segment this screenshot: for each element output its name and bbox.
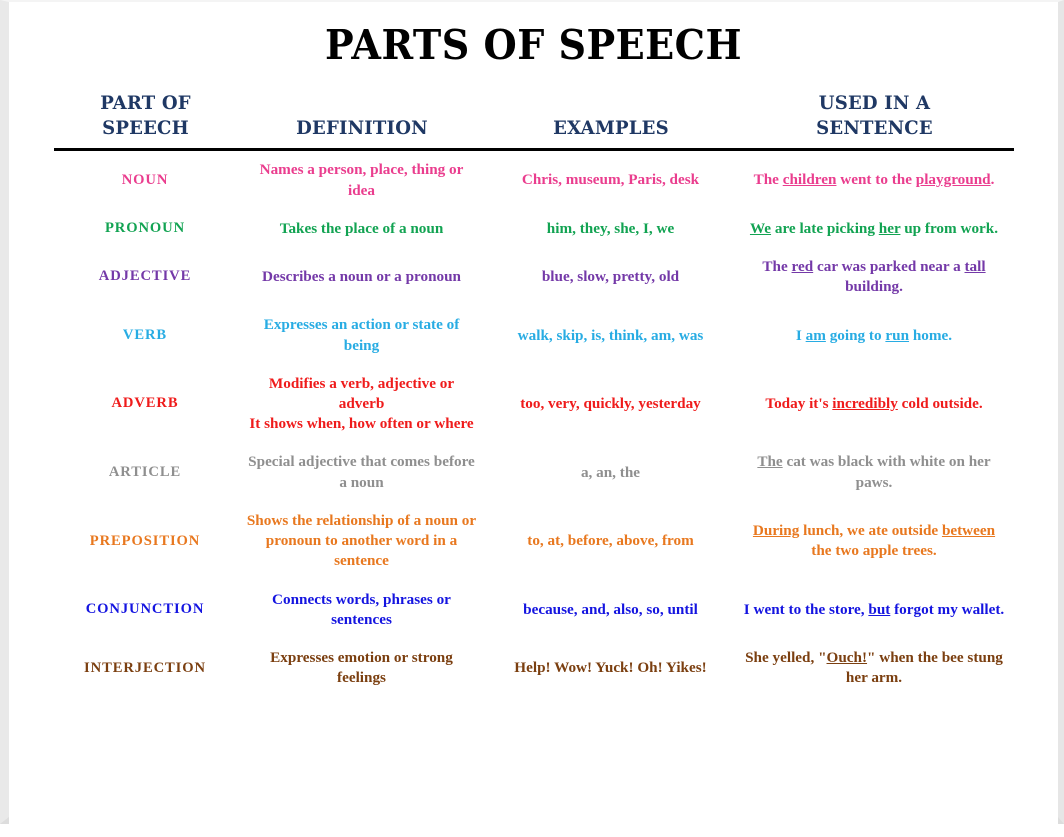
table-row: VERBExpresses an action or state of bein… <box>54 306 1014 364</box>
sentence-text: forgot my wallet. <box>890 601 1004 618</box>
column-header-line: DEFINITION <box>296 117 428 139</box>
table-row: ADJECTIVEDescribes a noun or a pronounbl… <box>54 248 1014 306</box>
table-row: NOUNNames a person, place, thing or idea… <box>54 150 1014 210</box>
part-of-speech-name: INTERJECTION <box>54 639 237 697</box>
sentence-highlight-word: tall <box>965 258 986 275</box>
part-of-speech-name: ADJECTIVE <box>54 248 237 306</box>
sentence-highlight-word: am <box>806 327 826 344</box>
sentence-text: I went to the store, <box>744 601 869 618</box>
part-of-speech-name: ARTICLE <box>54 443 237 501</box>
definition-text: Names a person, place, thing or idea <box>260 161 464 198</box>
sentence-highlight-word: her <box>879 220 901 237</box>
part-of-speech-sentence: We are late picking her up from work. <box>735 210 1014 248</box>
sentence-text: the two apple trees. <box>811 542 936 559</box>
part-of-speech-name: PREPOSITION <box>54 502 237 581</box>
part-of-speech-examples: walk, skip, is, think, am, was <box>487 306 735 364</box>
column-header-line: PART OF <box>100 92 191 114</box>
sentence-text: The <box>754 171 783 188</box>
column-header-line: SPEECH <box>102 117 189 139</box>
sentence-text: lunch, we ate outside <box>799 522 942 539</box>
part-of-speech-name: NOUN <box>54 150 237 210</box>
part-of-speech-definition: Describes a noun or a pronoun <box>237 248 487 306</box>
column-header-line: USED IN A <box>818 92 929 114</box>
sentence-highlight-word: Ouch! <box>827 649 868 666</box>
sentence-highlight-word: The <box>757 453 782 470</box>
sentence-highlight-word: run <box>885 327 909 344</box>
sentence-highlight-word: between <box>942 522 995 539</box>
sentence-text: car was parked near a <box>813 258 964 275</box>
sentence-text: up from work. <box>900 220 998 237</box>
table-header: PART OFSPEECH DEFINITION EXAMPLES USED I… <box>54 91 1014 150</box>
definition-text-secondary: It shows when, how often or where <box>247 414 477 434</box>
definition-text: Describes a noun or a pronoun <box>262 268 461 285</box>
part-of-speech-sentence: The cat was black with white on her paws… <box>735 443 1014 501</box>
table-row: PREPOSITIONShows the relationship of a n… <box>54 502 1014 581</box>
sentence-text: " when the bee stung her arm. <box>846 649 1003 686</box>
part-of-speech-examples: blue, slow, pretty, old <box>487 248 735 306</box>
part-of-speech-examples: Help! Wow! Yuck! Oh! Yikes! <box>487 639 735 697</box>
sentence-highlight-word: children <box>783 171 837 188</box>
sentence-text: Today it's <box>765 395 832 412</box>
part-of-speech-name: ADVERB <box>54 365 237 444</box>
definition-text: Modifies a verb, adjective or adverb <box>269 375 454 412</box>
column-header-used-in-a-sentence: USED IN ASENTENCE <box>741 91 1006 150</box>
part-of-speech-definition: Shows the relationship of a noun or pron… <box>237 502 487 581</box>
column-header-definition: DEFINITION <box>243 91 481 150</box>
column-header-line: EXAMPLES <box>553 117 669 139</box>
sentence-text: The <box>762 258 791 275</box>
definition-text: Takes the place of a noun <box>280 220 444 237</box>
table-header-row: PART OFSPEECH DEFINITION EXAMPLES USED I… <box>54 91 1014 150</box>
part-of-speech-examples: to, at, before, above, from <box>487 502 735 581</box>
sentence-highlight-word: incredibly <box>832 395 898 412</box>
sentence-text: cat was black with white on her paws. <box>783 453 991 490</box>
part-of-speech-definition: Names a person, place, thing or idea <box>237 150 487 210</box>
column-header-examples: EXAMPLES <box>493 91 729 150</box>
part-of-speech-sentence: She yelled, "Ouch!" when the bee stung h… <box>735 639 1014 697</box>
sentence-text: home. <box>909 327 952 344</box>
part-of-speech-examples: Chris, museum, Paris, desk <box>487 150 735 210</box>
part-of-speech-definition: Expresses emotion or strong feelings <box>237 639 487 697</box>
part-of-speech-examples: him, they, she, I, we <box>487 210 735 248</box>
page-frame: PARTS OF SPEECH PART OFSPEECH DEFINITION… <box>0 0 1064 824</box>
definition-text: Expresses emotion or strong feelings <box>270 649 453 686</box>
sentence-highlight-word: playground <box>916 171 991 188</box>
part-of-speech-examples: too, very, quickly, yesterday <box>487 365 735 444</box>
sentence-text: I <box>796 327 806 344</box>
part-of-speech-definition: Modifies a verb, adjective or adverbIt s… <box>237 365 487 444</box>
definition-text: Special adjective that comes before a no… <box>248 453 475 490</box>
part-of-speech-name: VERB <box>54 306 237 364</box>
sentence-text: went to the <box>836 171 915 188</box>
definition-text: Connects words, phrases or sentences <box>272 591 451 628</box>
part-of-speech-name: CONJUNCTION <box>54 581 237 639</box>
table-row: PRONOUNTakes the place of a nounhim, the… <box>54 210 1014 248</box>
sentence-highlight-word: red <box>792 258 814 275</box>
part-of-speech-sentence: Today it's incredibly cold outside. <box>735 365 1014 444</box>
table-row: CONJUNCTIONConnects words, phrases or se… <box>54 581 1014 639</box>
part-of-speech-definition: Expresses an action or state of being <box>237 306 487 364</box>
part-of-speech-sentence: The children went to the playground. <box>735 150 1014 210</box>
part-of-speech-sentence: The red car was parked near a tall build… <box>735 248 1014 306</box>
part-of-speech-definition: Special adjective that comes before a no… <box>237 443 487 501</box>
sentence-text: . <box>991 171 995 188</box>
column-header-part-of-speech: PART OFSPEECH <box>58 91 232 150</box>
part-of-speech-name: PRONOUN <box>54 210 237 248</box>
table-row: ADVERBModifies a verb, adjective or adve… <box>54 365 1014 444</box>
part-of-speech-sentence: I went to the store, but forgot my walle… <box>735 581 1014 639</box>
sentence-text: are late picking <box>771 220 879 237</box>
sentence-highlight-word: During <box>753 522 799 539</box>
part-of-speech-definition: Connects words, phrases or sentences <box>237 581 487 639</box>
definition-text: Expresses an action or state of being <box>264 316 460 353</box>
sentence-text: She yelled, " <box>745 649 826 666</box>
table-row: INTERJECTIONExpresses emotion or strong … <box>54 639 1014 697</box>
part-of-speech-sentence: During lunch, we ate outside between the… <box>735 502 1014 581</box>
sentence-text: building. <box>845 278 903 295</box>
part-of-speech-definition: Takes the place of a noun <box>237 210 487 248</box>
sentence-highlight-word: We <box>750 220 771 237</box>
sentence-text: cold outside. <box>898 395 983 412</box>
parts-of-speech-table: PART OFSPEECH DEFINITION EXAMPLES USED I… <box>54 91 1014 697</box>
part-of-speech-examples: because, and, also, so, until <box>487 581 735 639</box>
table-body: NOUNNames a person, place, thing or idea… <box>54 150 1014 698</box>
part-of-speech-sentence: I am going to run home. <box>735 306 1014 364</box>
sentence-highlight-word: but <box>868 601 890 618</box>
sentence-text: going to <box>826 327 886 344</box>
worksheet-sheet: PARTS OF SPEECH PART OFSPEECH DEFINITION… <box>9 22 1058 837</box>
table-row: ARTICLESpecial adjective that comes befo… <box>54 443 1014 501</box>
page-title: PARTS OF SPEECH <box>46 22 1022 69</box>
column-header-line: SENTENCE <box>816 117 933 139</box>
part-of-speech-examples: a, an, the <box>487 443 735 501</box>
definition-text: Shows the relationship of a noun or pron… <box>247 512 476 569</box>
